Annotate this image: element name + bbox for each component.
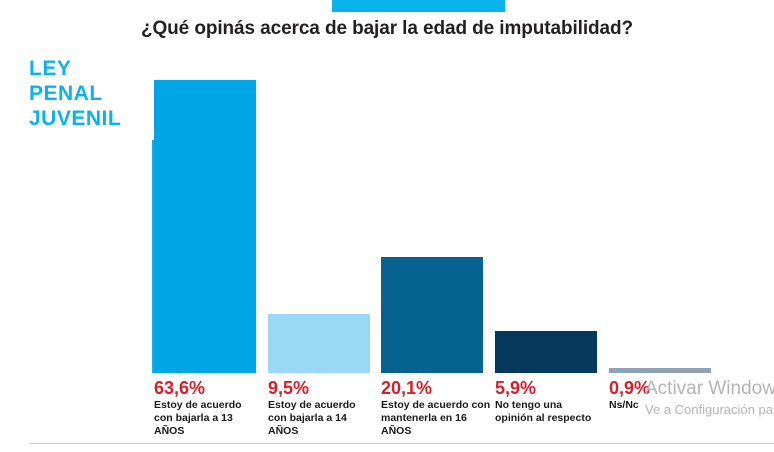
bar-5 — [609, 368, 711, 373]
bar-1 — [154, 80, 256, 373]
bar-category-label-5: Ns/Nc — [609, 399, 713, 412]
bar-value-label-5: 0,9% — [609, 378, 713, 398]
bar-value-label-2: 9,5% — [268, 378, 376, 398]
bar-label-group-1: 63,6%Estoy de acuerdo con bajarla a 13 A… — [154, 378, 262, 438]
bar-category-label-4: No tengo una opinión al respecto — [495, 399, 599, 425]
bar-value-label-1: 63,6% — [154, 378, 262, 398]
bar-2 — [268, 314, 370, 373]
bar-category-label-1: Estoy de acuerdo con bajarla a 13 AÑOS — [154, 399, 262, 438]
bar-value-label-3: 20,1% — [381, 378, 493, 398]
bar-3 — [381, 257, 483, 373]
bar-category-label-2: Estoy de acuerdo con bajarla a 14 AÑOS — [268, 399, 376, 438]
bar-label-group-3: 20,1%Estoy de acuerdo con mantenerla en … — [381, 378, 493, 438]
bar-chart-plot-area: 63,6%Estoy de acuerdo con bajarla a 13 A… — [0, 0, 774, 452]
bar-label-group-5: 0,9%Ns/Nc — [609, 378, 713, 412]
bar-label-group-2: 9,5%Estoy de acuerdo con bajarla a 14 AÑ… — [268, 378, 376, 438]
footer-divider — [30, 443, 774, 444]
bar-category-label-3: Estoy de acuerdo con mantenerla en 16 AÑ… — [381, 399, 493, 438]
bar-value-label-4: 5,9% — [495, 378, 599, 398]
bar-label-group-4: 5,9%No tengo una opinión al respecto — [495, 378, 599, 425]
bar-4 — [495, 331, 597, 373]
